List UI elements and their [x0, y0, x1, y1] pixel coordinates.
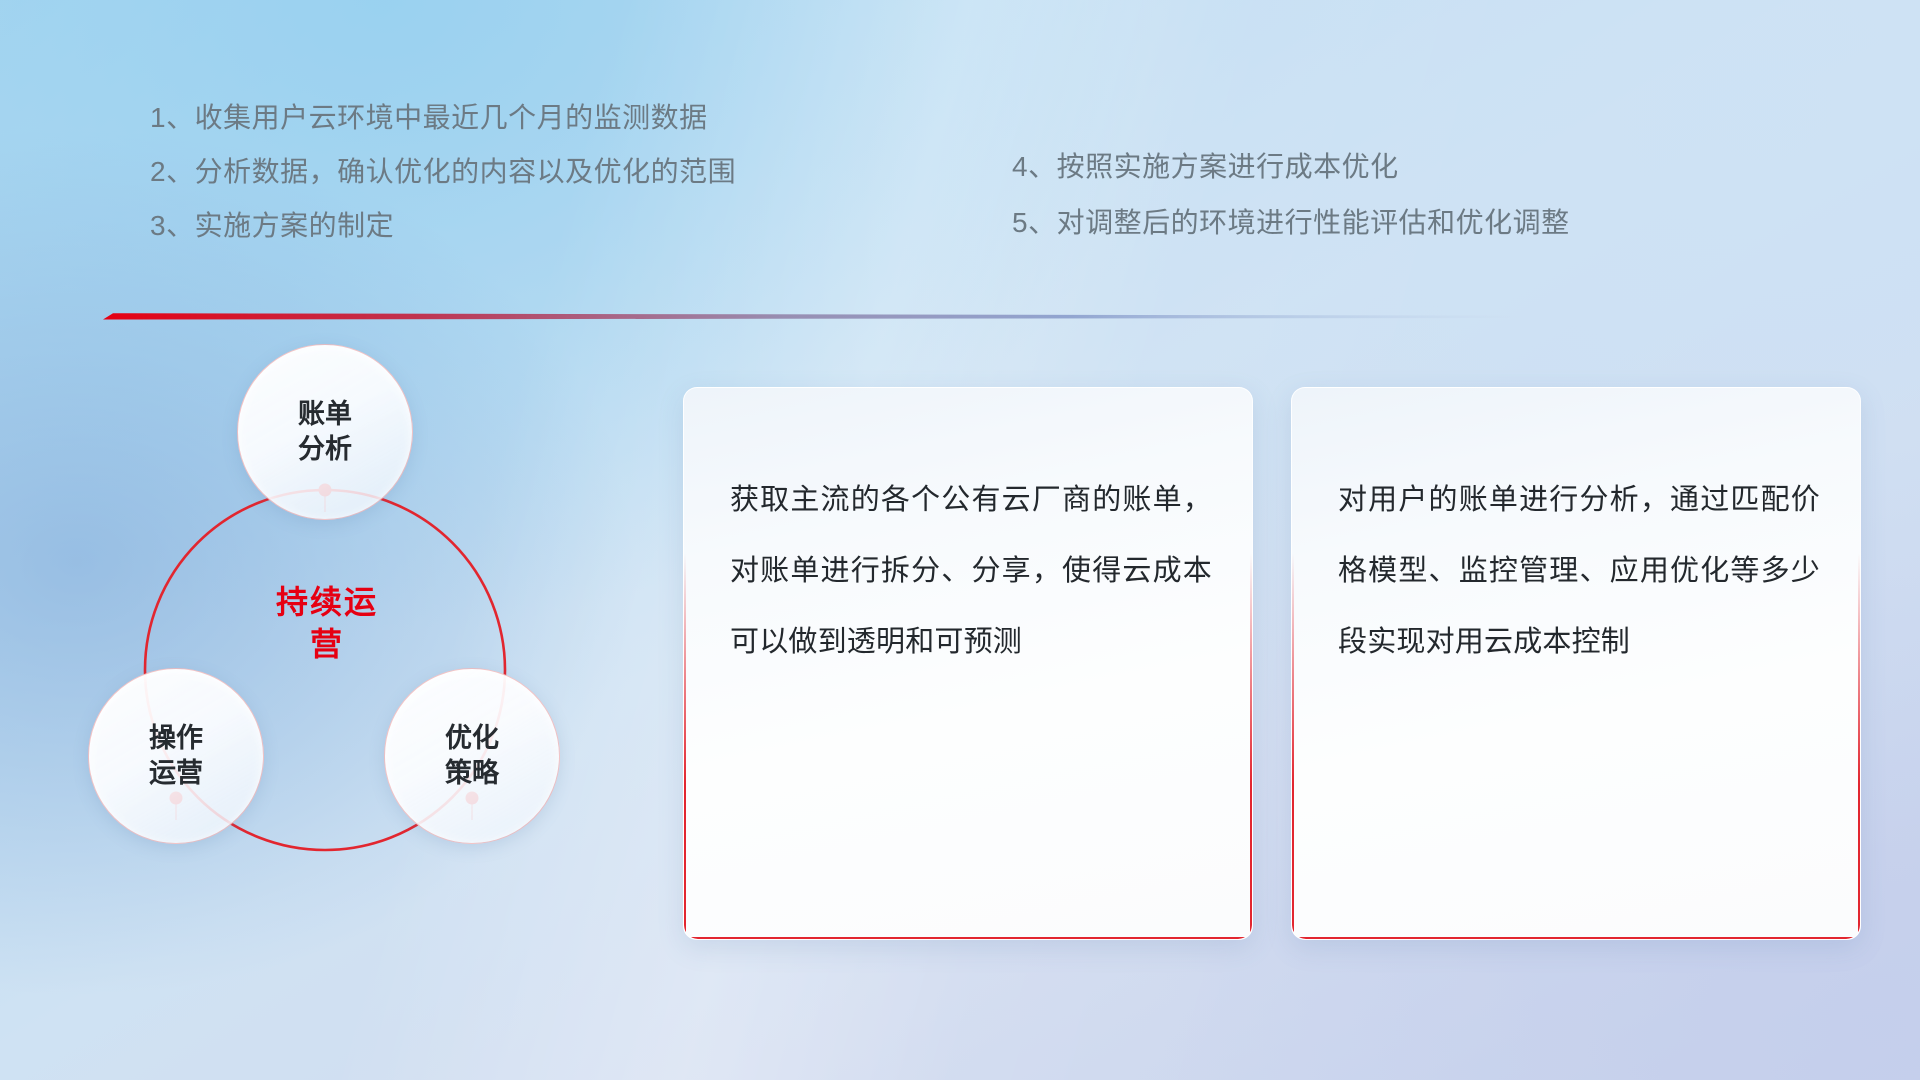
bubble-line-1: 账单 [298, 397, 352, 432]
diagram-bubble-optimization-strategy[interactable]: 优化 策略 [384, 668, 560, 844]
step-item: 1、收集用户云环境中最近几个月的监测数据 [150, 104, 736, 132]
bubble-line-2: 策略 [445, 756, 499, 791]
step-item: 5、对调整后的环境进行性能评估和优化调整 [1012, 209, 1570, 237]
step-item: 3、实施方案的制定 [150, 212, 736, 240]
feature-card-multicloud-billing[interactable]: 获取主流的各个公有云厂商的账单，对账单进行拆分、分享，使得云成本可以做到透明和可… [683, 387, 1253, 940]
card-description: 对用户的账单进行分析，通过匹配价格模型、监控管理、应用优化等多少段实现对用云成本… [1338, 465, 1820, 678]
diagram-bubble-billing-analysis[interactable]: 账单 分析 [237, 344, 413, 520]
diagram-center-label: 持续运营 [262, 582, 392, 665]
card-description: 获取主流的各个公有云厂商的账单，对账单进行拆分、分享，使得云成本可以做到透明和可… [730, 465, 1212, 678]
step-item: 2、分析数据，确认优化的内容以及优化的范围 [150, 158, 736, 186]
bubble-line-1: 优化 [445, 721, 499, 756]
feature-card-cloud-cost-optimization[interactable]: 对用户的账单进行分析，通过匹配价格模型、监控管理、应用优化等多少段实现对用云成本… [1291, 387, 1861, 940]
steps-list-left: 1、收集用户云环境中最近几个月的监测数据 2、分析数据，确认优化的内容以及优化的… [150, 104, 736, 266]
diagram-bubble-operations[interactable]: 操作 运营 [88, 668, 264, 844]
steps-list-right: 4、按照实施方案进行成本优化 5、对调整后的环境进行性能评估和优化调整 [1012, 153, 1570, 265]
section-divider [103, 310, 1523, 322]
cycle-diagram: 账单 分析 操作 运营 优化 策略 持续运营 [100, 350, 660, 950]
bubble-line-1: 操作 [149, 721, 203, 756]
step-item: 4、按照实施方案进行成本优化 [1012, 153, 1570, 181]
bubble-line-2: 分析 [298, 432, 352, 467]
bubble-line-2: 运营 [149, 756, 203, 791]
